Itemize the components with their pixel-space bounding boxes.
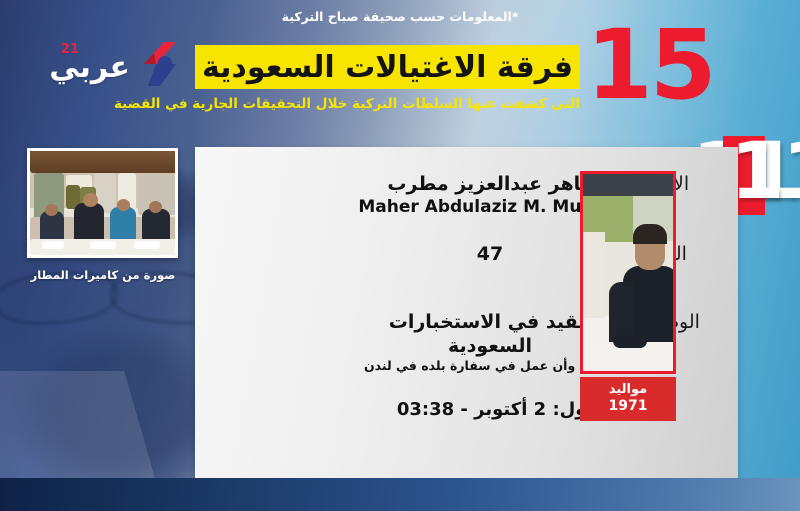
brand-superscript: 21 [61, 42, 79, 57]
portrait-caption-year: 1971 [609, 398, 648, 414]
footer-bar [0, 478, 800, 511]
infographic-canvas: عربي 21 فرقة الاغتيالات السعودية التي كش… [0, 0, 800, 511]
suspect-portrait [580, 171, 676, 374]
thumbnail-caption: صورة من كاميرات المطار [8, 268, 198, 282]
headline-band: فرقة الاغتيالات السعودية [195, 45, 580, 89]
airport-cctv-photo-icon [30, 151, 175, 255]
brand-logo: عربي 21 [38, 36, 178, 96]
footer-source-note: *المعلومات حسب صحيفة صباح التركية [0, 0, 800, 33]
headline-subtitle: التي كشفت عنها السلطات التركية خلال التح… [195, 96, 580, 112]
card-index-digit: 11 [730, 133, 800, 211]
airport-cctv-thumbnail [27, 148, 178, 258]
portrait-caption: مواليد 1971 [580, 377, 676, 421]
headline-title: فرقة الاغتيالات السعودية [202, 50, 573, 85]
portrait-caption-label: مواليد [609, 383, 647, 398]
arabi21-s-mark-icon [134, 40, 178, 88]
